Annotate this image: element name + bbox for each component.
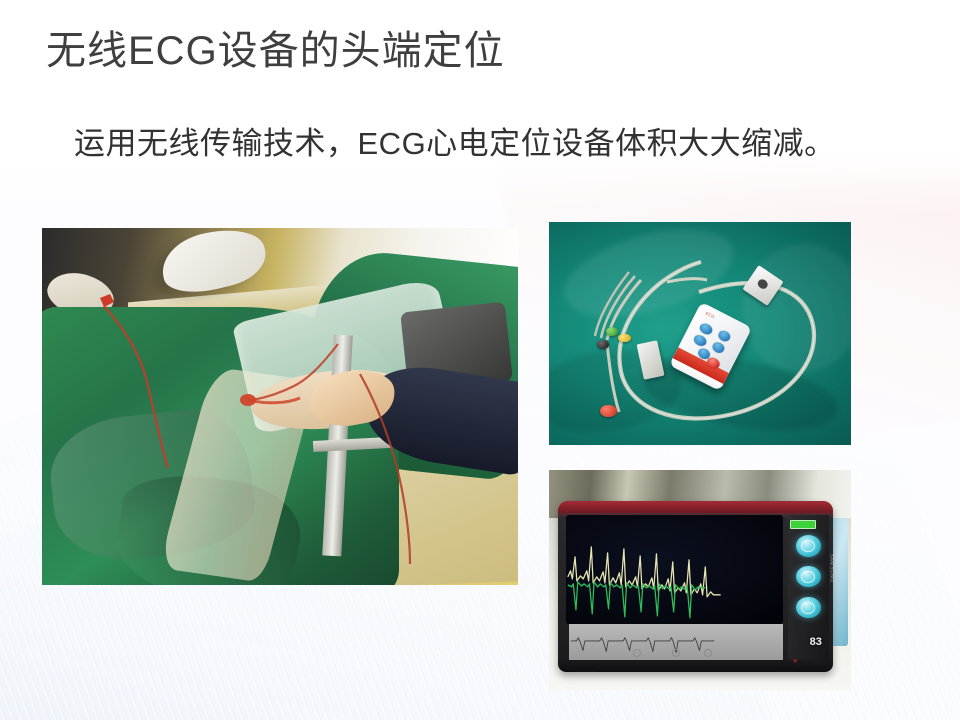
battery-indicator-icon — [790, 520, 817, 530]
save-record-button[interactable] — [796, 566, 821, 587]
gear-icon — [801, 602, 815, 614]
presentation-slide: 无线ECG设备的头端定位 运用无线传输技术，ECG心电定位设备体积大大缩减。 — [0, 0, 960, 720]
electrode-green-icon — [606, 327, 618, 336]
device-button-4[interactable] — [711, 340, 727, 355]
settings-button[interactable] — [796, 597, 821, 618]
heart-rate-readout: 83 — [810, 636, 822, 648]
vendor-logo-icon: ◈ — [793, 658, 797, 664]
tablet-stand-foot-left — [577, 666, 596, 673]
electrode-yellow-icon — [618, 334, 630, 343]
tablet-red-trim — [558, 501, 833, 513]
ecg-strip-recorder — [569, 624, 783, 660]
photo-wireless-ecg-device: ECG — [549, 222, 851, 445]
device-brand-mark: ECG — [705, 311, 716, 320]
tablet-screen[interactable] — [566, 515, 783, 625]
electrode-red-icon — [600, 405, 617, 417]
ecg-lead-wires-overlay — [42, 228, 518, 585]
save-icon — [801, 571, 815, 583]
tablet-device: SAMSUNG 83 ◈ — [558, 501, 833, 673]
photo-tablet-ecg-monitor: SAMSUNG 83 ◈ — [549, 470, 851, 690]
user-icon — [801, 540, 815, 552]
user-profile-button[interactable] — [796, 535, 821, 556]
slide-title: 无线ECG设备的头端定位 — [46, 24, 505, 78]
photo-operating-room — [42, 228, 518, 585]
strip-marker-2 — [672, 649, 680, 657]
ecg-waveform-main — [566, 515, 783, 625]
tablet-stand-foot-right — [775, 666, 794, 673]
tablet-brand-label: SAMSUNG — [829, 553, 833, 582]
slide-subtitle: 运用无线传输技术，ECG心电定位设备体积大大缩减。 — [74, 122, 836, 166]
device-button-3[interactable] — [692, 333, 708, 348]
strip-marker-3 — [704, 649, 712, 657]
connector-port-icon — [756, 278, 769, 291]
